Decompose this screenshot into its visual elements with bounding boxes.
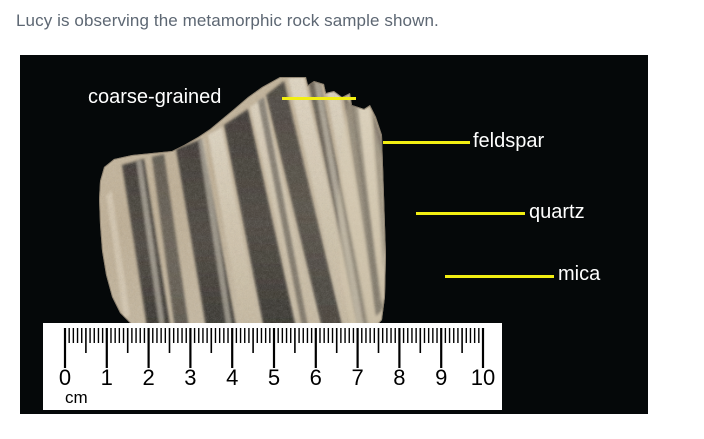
leader-line-coarse-grained [282,97,356,100]
ruler-number-4: 4 [226,365,238,390]
leader-line-feldspar [383,141,470,144]
annotation-label-quartz: quartz [529,201,585,223]
rock-figure-panel: coarse-grained feldspar quartz mica 0123… [20,55,648,414]
ruler-number-2: 2 [142,365,154,390]
ruler-number-0: 0 [59,365,71,390]
ruler-unit-label: cm [65,388,88,407]
ruler-number-8: 8 [393,365,405,390]
rock-specimen-image [52,75,520,347]
ruler-number-1: 1 [101,365,113,390]
ruler-number-6: 6 [310,365,322,390]
ruler-number-10: 10 [471,365,495,390]
rock-specimen-graphic [52,75,520,347]
annotation-label-coarse-grained: coarse-grained [88,86,221,108]
leader-line-mica [445,275,554,278]
leader-line-quartz [416,212,525,215]
ruler-number-9: 9 [435,365,447,390]
ruler-number-5: 5 [268,365,280,390]
annotation-label-feldspar: feldspar [473,130,544,152]
scale-ruler: 012345678910 cm [43,323,502,410]
ruler-number-3: 3 [184,365,196,390]
annotation-label-mica: mica [558,263,600,285]
scale-ruler-graphic: 012345678910 cm [43,323,502,410]
question-prompt: Lucy is observing the metamorphic rock s… [16,9,439,33]
ruler-number-7: 7 [351,365,363,390]
